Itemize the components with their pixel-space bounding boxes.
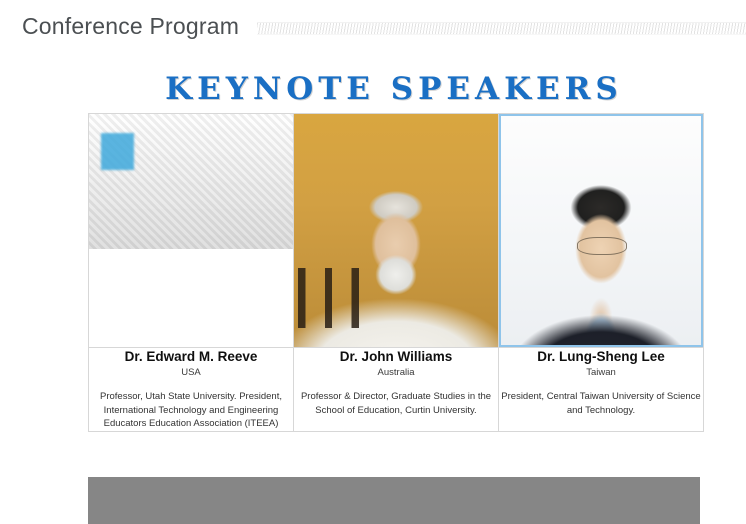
speaker-caption-cell: Dr. Edward M. Reeve USA Professor, Utah … [89, 348, 294, 432]
speaker-country: Taiwan [499, 366, 703, 380]
speaker-photo-cell [294, 114, 499, 348]
table-row-photos [89, 114, 704, 348]
photo-lung-sheng-lee-icon [499, 114, 703, 347]
speaker-photo-cell [499, 114, 704, 348]
speaker-country: Australia [294, 366, 498, 380]
speaker-affiliation: Professor, Utah State University. Presid… [89, 390, 293, 431]
speaker-photo-cell [89, 114, 294, 348]
speaker-caption-cell: Dr. John Williams Australia Professor & … [294, 348, 499, 432]
speaker-name: Dr. Edward M. Reeve [89, 348, 293, 365]
table-row-captions: Dr. Edward M. Reeve USA Professor, Utah … [89, 348, 704, 432]
photo-john-williams-icon [294, 114, 498, 347]
speaker-name: Dr. John Williams [294, 348, 498, 365]
speaker-name: Dr. Lung-Sheng Lee [499, 348, 703, 365]
speaker-affiliation: President, Central Taiwan University of … [499, 390, 703, 417]
speaker-country: USA [89, 366, 293, 380]
bottom-scrim-overlay [88, 477, 700, 524]
speaker-table: Dr. Edward M. Reeve USA Professor, Utah … [88, 113, 704, 432]
photo-edward-reeve-icon [89, 114, 293, 347]
hatched-rule-icon [257, 22, 746, 35]
slide-heading: KEYNOTE SPEAKERS [88, 72, 700, 106]
document-header: Conference Program [0, 0, 746, 52]
slide-canvas: KEYNOTE SPEAKERS Dr. Edward M. Reeve USA… [0, 52, 746, 472]
page-title: Conference Program [22, 13, 239, 40]
speaker-affiliation: Professor & Director, Graduate Studies i… [294, 390, 498, 417]
speaker-caption-cell: Dr. Lung-Sheng Lee Taiwan President, Cen… [499, 348, 704, 432]
